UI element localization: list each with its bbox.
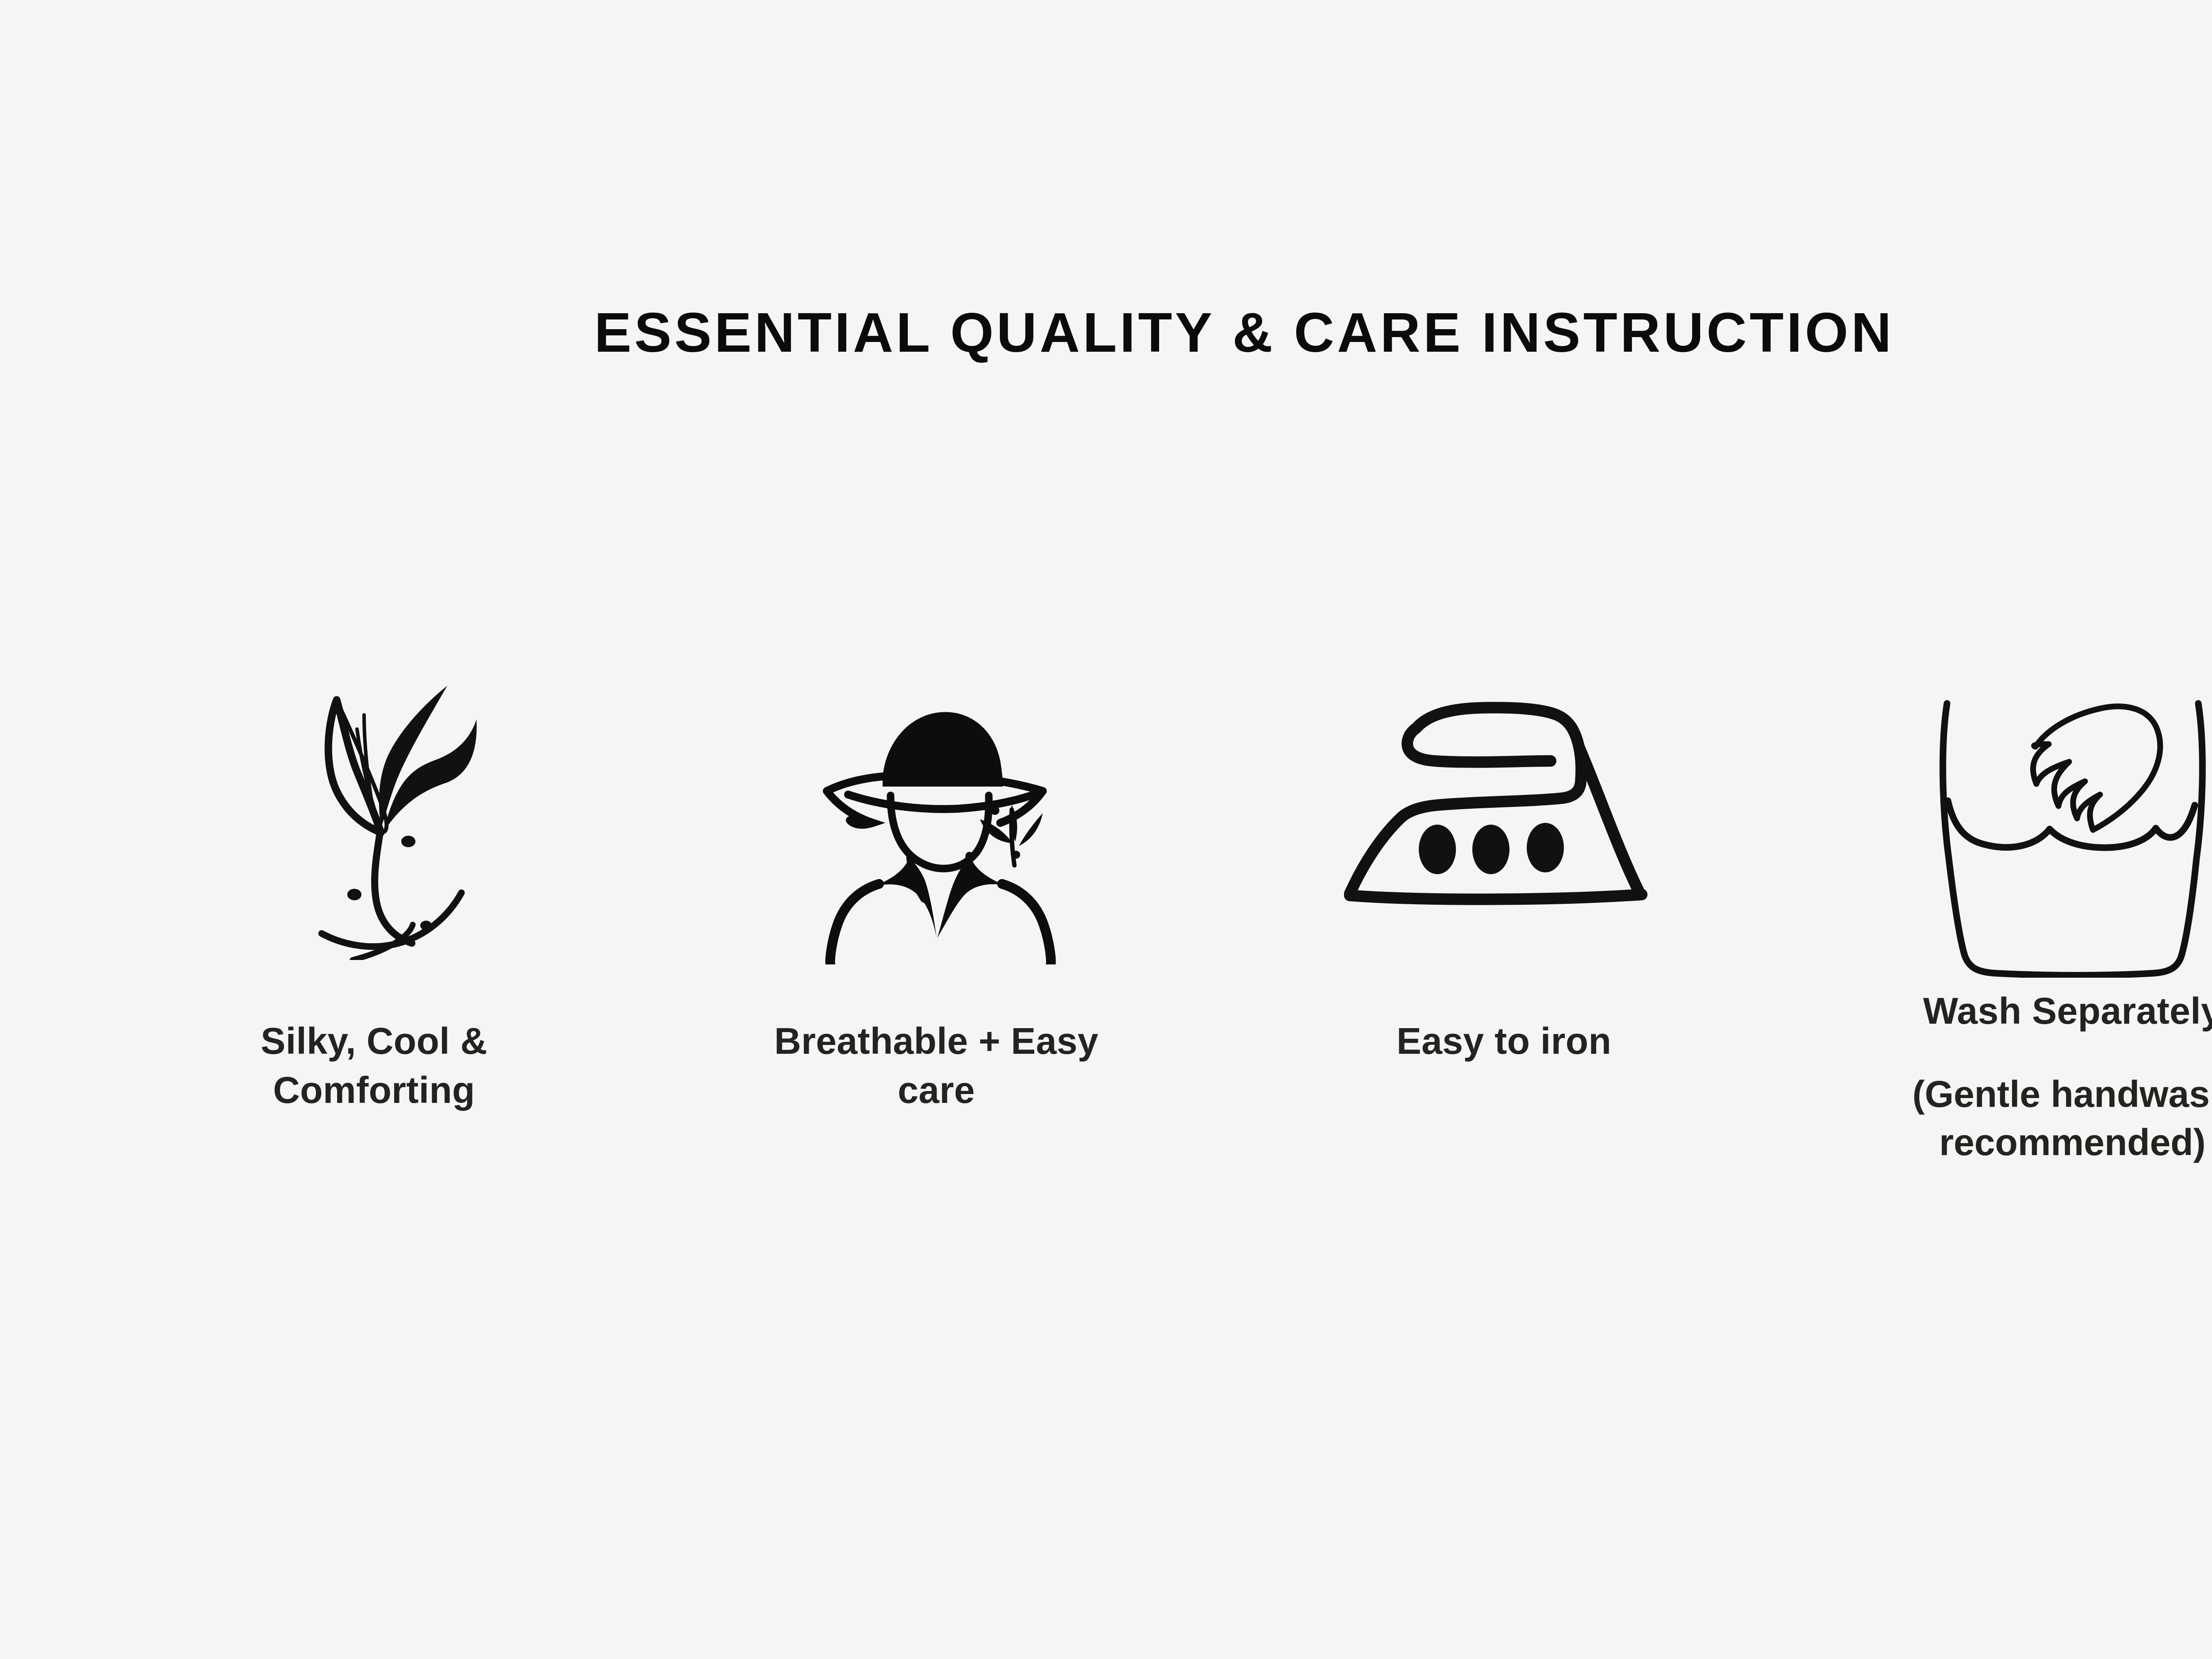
page-title: ESSENTIAL QUALITY & CARE INSTRUCTION [0,304,2212,361]
feature-sublabel: (Gentle handwash recommended) [1836,1070,2212,1167]
farmer-with-hat-icon [663,672,1210,1026]
feature-label: Breathable + Easy care [746,1017,1127,1115]
feature-item-silky-cool-comforting: Silky, Cool & Comforting [101,672,647,1115]
feature-item-easy-to-iron: Easy to iron [1231,672,1777,1066]
plant-sprout-icon [101,672,647,1026]
feature-label: Silky, Cool & Comforting [184,1017,565,1115]
feature-columns: Silky, Cool & Comforting [0,672,2212,1167]
iron-icon [1231,672,1777,1026]
feature-item-breathable-easy-care: Breathable + Easy care [663,672,1210,1115]
feature-item-wash-separately: Wash Separately (Gentle handwash recomme… [1799,672,2212,1167]
care-instruction-panel: ESSENTIAL QUALITY & CARE INSTRUCTION [0,0,2212,1659]
feature-label: Wash Separately [1923,987,2212,1036]
handwash-basin-icon [1799,672,2212,1026]
feature-label: Easy to iron [1397,1017,1612,1066]
